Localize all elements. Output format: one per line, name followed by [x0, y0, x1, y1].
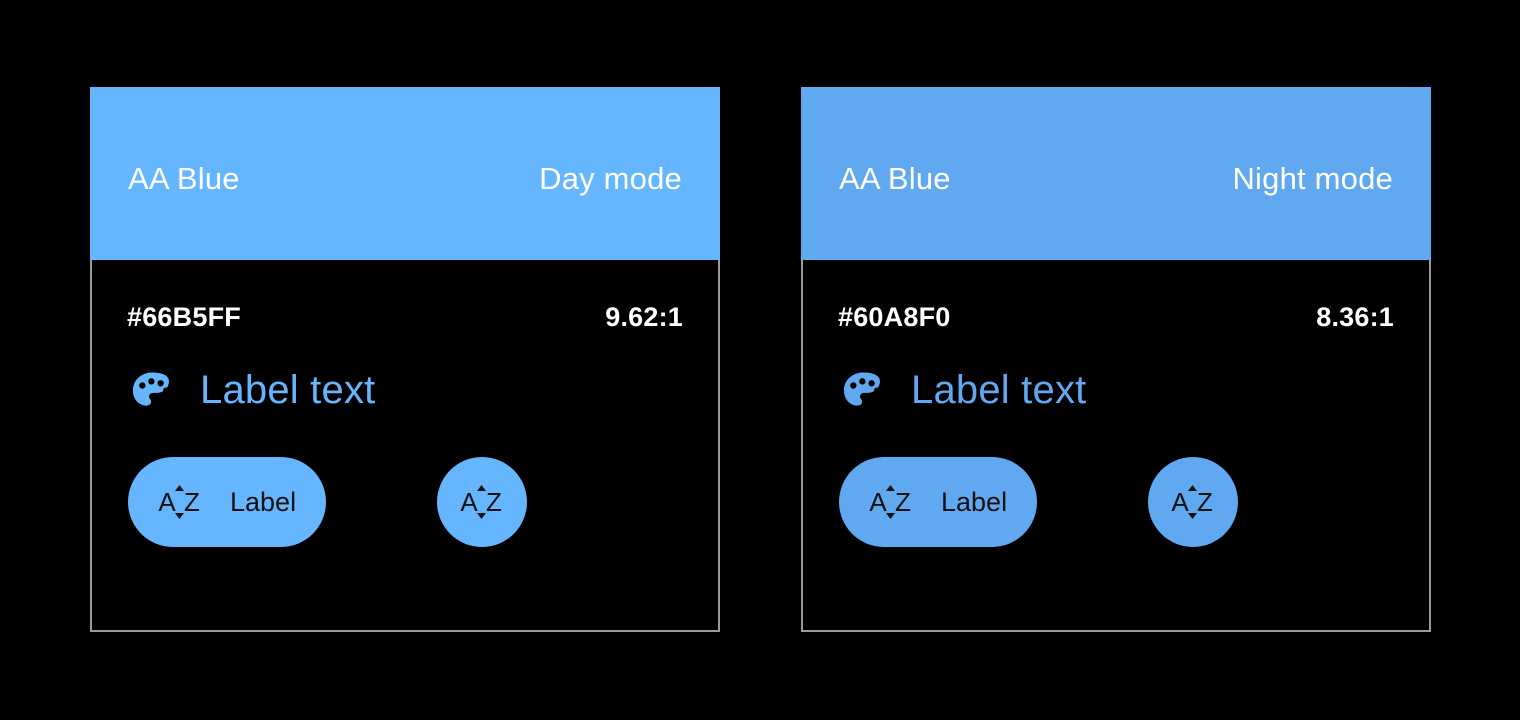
card-mode-label-day: Day mode — [539, 161, 682, 197]
swatch-info-row-day: #66B5FF 9.62:1 — [127, 302, 683, 333]
sort-button-label-day: Label — [230, 487, 296, 518]
sort-alpha-icon: A Z — [867, 480, 915, 524]
label-text-day: Label text — [200, 368, 375, 413]
card-title-day: AA Blue — [128, 161, 240, 197]
swatch-info-row-night: #60A8F0 8.36:1 — [838, 302, 1394, 333]
card-mode-label-night: Night mode — [1232, 161, 1393, 197]
label-sample-row-day: Label text — [128, 368, 375, 413]
svg-text:A: A — [1171, 487, 1189, 517]
sort-label-button-day[interactable]: A Z Label — [128, 457, 326, 547]
button-row-night: A Z Label A Z — [839, 457, 1393, 547]
svg-text:Z: Z — [895, 487, 911, 517]
label-text-night: Label text — [911, 368, 1086, 413]
card-body-night: #60A8F0 8.36:1 Label text — [801, 260, 1431, 632]
svg-text:A: A — [158, 487, 176, 517]
sort-alpha-icon: A Z — [1169, 480, 1217, 524]
sort-button-label-night: Label — [941, 487, 1007, 518]
sort-alpha-icon: A Z — [458, 480, 506, 524]
contrast-ratio-day: 9.62:1 — [605, 302, 683, 333]
button-row-day: A Z Label A Z — [128, 457, 682, 547]
contrast-ratio-night: 8.36:1 — [1316, 302, 1394, 333]
sort-fab-button-day[interactable]: A Z — [437, 457, 527, 547]
card-title-night: AA Blue — [839, 161, 951, 197]
svg-text:A: A — [869, 487, 887, 517]
card-body-day: #66B5FF 9.62:1 Label text — [90, 260, 720, 632]
hex-code-night: #60A8F0 — [838, 302, 950, 333]
svg-text:A: A — [460, 487, 478, 517]
palette-icon — [839, 369, 887, 413]
card-header-night: AA Blue Night mode — [801, 87, 1431, 260]
svg-text:Z: Z — [1197, 487, 1213, 517]
palette-icon — [128, 369, 176, 413]
card-header-day: AA Blue Day mode — [90, 87, 720, 260]
sort-alpha-icon: A Z — [156, 480, 204, 524]
label-sample-row-night: Label text — [839, 368, 1086, 413]
preview-canvas: AA Blue Day mode #66B5FF 9.62:1 — [0, 0, 1520, 720]
svg-text:Z: Z — [486, 487, 502, 517]
sort-fab-button-night[interactable]: A Z — [1148, 457, 1238, 547]
color-preview-card-day: AA Blue Day mode #66B5FF 9.62:1 — [90, 87, 720, 632]
svg-text:Z: Z — [184, 487, 200, 517]
hex-code-day: #66B5FF — [127, 302, 241, 333]
color-preview-card-night: AA Blue Night mode #60A8F0 8.36:1 — [801, 87, 1431, 632]
sort-label-button-night[interactable]: A Z Label — [839, 457, 1037, 547]
